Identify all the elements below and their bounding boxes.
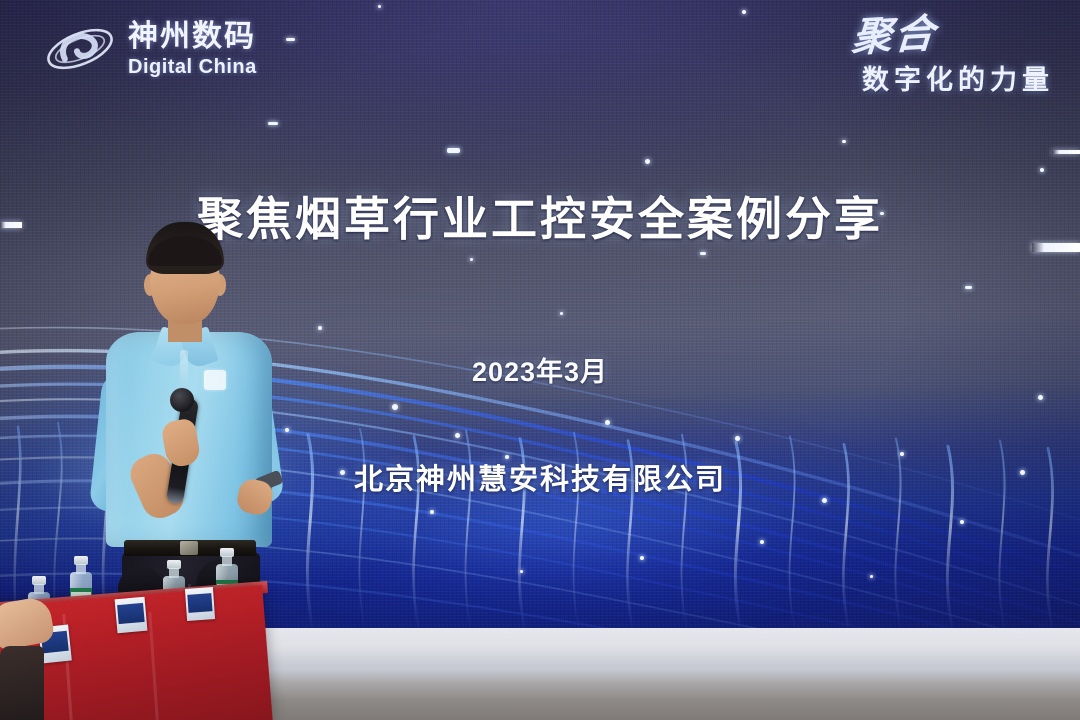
particle-dot <box>318 326 322 330</box>
presenter-shirt-logo-icon <box>204 370 226 390</box>
attendee-torso <box>0 646 44 720</box>
slogan-calligraphy: 聚合 <box>850 14 937 58</box>
particle-dot <box>470 258 473 261</box>
particle-dot <box>286 38 295 41</box>
particle-dot <box>378 5 381 8</box>
brand-logo: 神州数码 Digital China <box>42 16 257 82</box>
particle-dot <box>842 140 846 143</box>
name-card <box>185 587 215 621</box>
particle-dot <box>520 570 523 573</box>
particle-dot <box>822 498 827 503</box>
slogan-subtitle: 数字化的力量 <box>852 58 1054 97</box>
particle-dot <box>455 433 460 438</box>
brand-name-cn: 神州数码 <box>128 22 257 52</box>
particle-dot <box>742 10 746 14</box>
digital-china-swirl-logo-icon <box>42 16 118 82</box>
particle-dot <box>1040 168 1044 172</box>
event-slogan: 聚合 数字化的力量 <box>852 16 1054 97</box>
brand-wordmark: 神州数码 Digital China <box>128 22 257 77</box>
brand-name-en: Digital China <box>128 57 257 77</box>
particle-dot <box>268 122 278 125</box>
particle-dot <box>965 286 972 289</box>
particle-dot <box>735 436 740 441</box>
particle-dot <box>760 540 764 544</box>
particle-dot <box>960 520 964 524</box>
presenter-belt-buckle <box>180 541 198 555</box>
particle-dot <box>430 510 434 514</box>
particle-dot <box>870 575 873 578</box>
particle-dot <box>392 404 398 410</box>
name-card <box>115 597 148 633</box>
particle-dot <box>1038 395 1043 400</box>
particle-dot <box>560 312 563 315</box>
particle-dot <box>645 159 650 164</box>
particle-dot <box>605 420 610 425</box>
particle-dot <box>700 252 706 255</box>
conference-photo: 神州数码 Digital China 聚合 数字化的力量 聚焦烟草行业工控安全案… <box>0 0 1080 720</box>
particle-dot <box>447 148 460 153</box>
microphone-capsule <box>170 388 194 412</box>
name-card-strip <box>187 593 212 612</box>
light-streak <box>1052 150 1080 154</box>
name-card-strip <box>117 603 145 624</box>
particle-dot <box>640 556 644 560</box>
